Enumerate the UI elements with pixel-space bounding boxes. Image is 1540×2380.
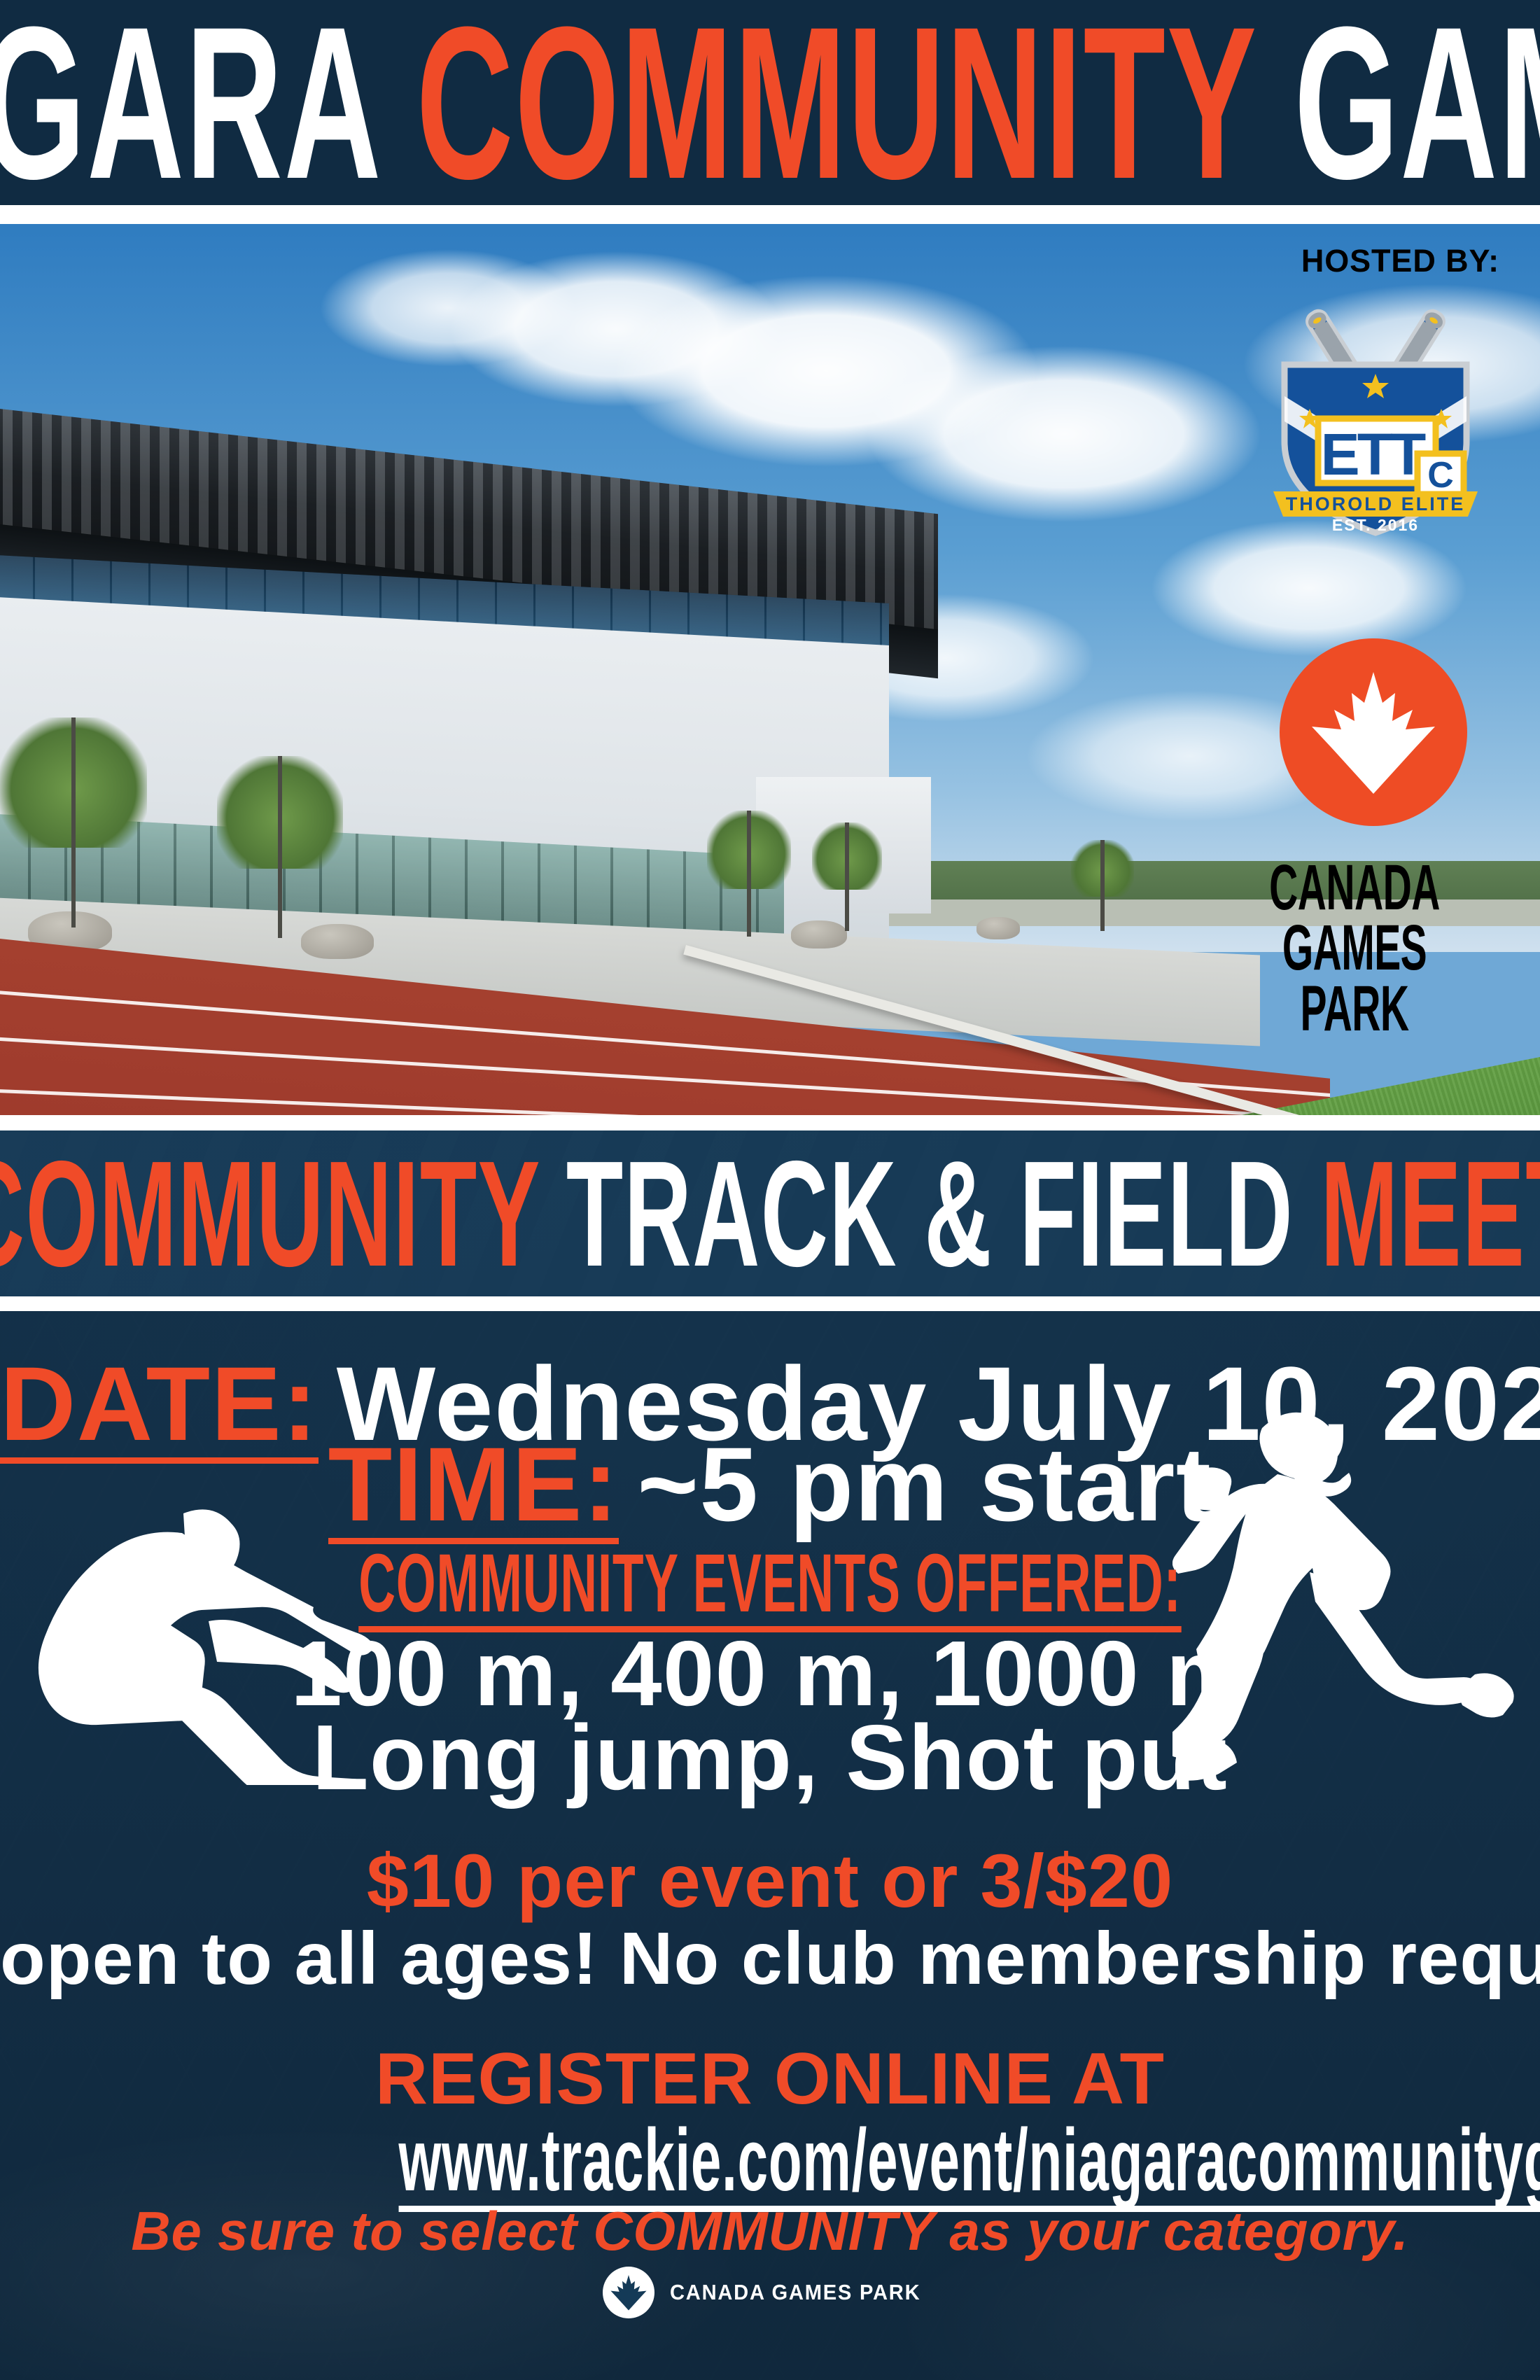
time-row: TIME:~5 pm start (0, 1431, 1540, 1544)
tree (812, 822, 882, 931)
subtitle: COMMUNITY TRACK & FIELD MEET (0, 1154, 1540, 1274)
time-label: TIME: (328, 1431, 619, 1544)
register-note-row: Be sure to select COMMUNITY as your cate… (0, 2204, 1540, 2258)
canada-games-park-logo-mark (1280, 638, 1467, 826)
footer-wordmark: CANADA GAMES PARK (670, 2280, 920, 2305)
details-section: DATE:Wednesday July 10, 2024 TIME:~5 pm … (0, 1311, 1540, 2380)
eligibility-text: open to all ages! No club membership req… (0, 1917, 1540, 2000)
cgp-line-2: GAMES (1252, 918, 1456, 978)
subtitle-banner: COMMUNITY TRACK & FIELD MEET (0, 1130, 1540, 1296)
hero-photo: HOSTED BY: (0, 224, 1540, 1115)
title-part-niagara: NIAGARA (0, 0, 416, 224)
title-part-community: COMMUNITY (416, 0, 1256, 224)
register-url-link[interactable]: www.trackie.com/event/niagaracommunityga… (399, 2116, 1540, 2212)
events-heading-row: COMMUNITY EVENTS OFFERED: (0, 1542, 1540, 1632)
price-row: $10 per event or 3/$20 (0, 1843, 1540, 1919)
subtitle-part-track-field: TRACK & FIELD (566, 1130, 1320, 1296)
subtitle-part-meet: MEET (1320, 1130, 1540, 1296)
ettc-host-logo: ETT C THOROLD ELITE EST. 2016 (1242, 291, 1508, 536)
tree (707, 811, 791, 937)
svg-text:ETT: ETT (1321, 421, 1426, 487)
cgp-line-1: CANADA (1252, 857, 1456, 918)
hosted-by-label: HOSTED BY: (1301, 243, 1499, 279)
events-line-2-row: Long jump, Shot put (0, 1711, 1540, 1804)
register-heading: REGISTER ONLINE AT (375, 2038, 1165, 2120)
maple-leaf-arrow-icon (1303, 662, 1443, 802)
register-note: Be sure to select COMMUNITY as your cate… (131, 2200, 1408, 2262)
events-heading: COMMUNITY EVENTS OFFERED: (358, 1542, 1181, 1632)
register-url-row[interactable]: www.trackie.com/event/niagaracommunityga… (0, 2116, 1540, 2212)
events-line-2: Long jump, Shot put (312, 1706, 1228, 1809)
canada-games-park-wordmark: CANADA GAMES PARK (1252, 857, 1456, 1039)
price-text: $10 per event or 3/$20 (367, 1838, 1173, 1923)
subtitle-part-community: COMMUNITY (0, 1130, 566, 1296)
ettc-ribbon-text: THOROLD ELITE (1286, 493, 1466, 514)
svg-text:C: C (1427, 455, 1454, 496)
cgp-line-3: PARK (1252, 979, 1456, 1039)
tree (217, 756, 343, 938)
ettc-established-text: EST. 2016 (1332, 516, 1419, 534)
tree (0, 717, 147, 927)
register-heading-row: REGISTER ONLINE AT (0, 2043, 1540, 2115)
footer-maple-leaf-icon (603, 2267, 654, 2318)
eligibility-row: open to all ages! No club membership req… (0, 1921, 1540, 1996)
title-part-games: GAMES (1256, 0, 1540, 224)
tree (1071, 840, 1134, 931)
planter (976, 917, 1020, 939)
footer-logo: CANADA GAMES PARK (0, 2267, 1540, 2318)
lane-line (0, 1084, 1330, 1115)
page-title: NIAGARA COMMUNITY GAMES (0, 18, 1540, 188)
poster-title-bar: NIAGARA COMMUNITY GAMES (0, 0, 1540, 205)
time-value: ~5 pm start (619, 1425, 1212, 1543)
